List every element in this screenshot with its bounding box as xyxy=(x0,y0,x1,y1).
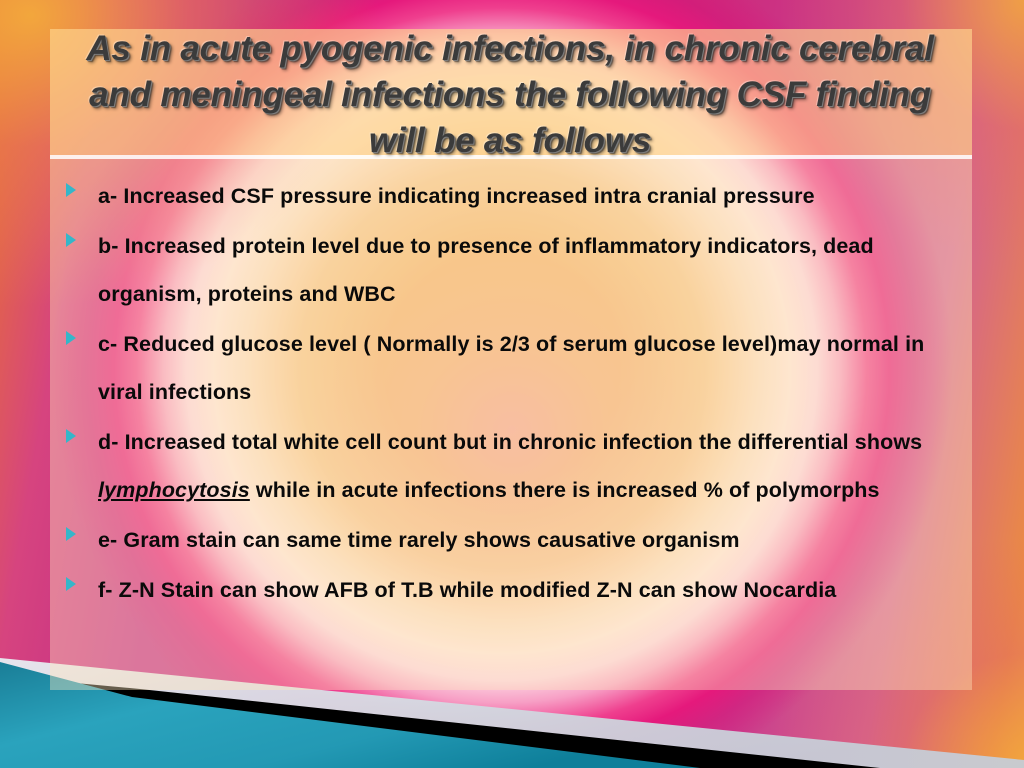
bullet-d-after: while in acute infections there is incre… xyxy=(250,478,880,502)
bullet-text-a: a- Increased CSF pressure indicating inc… xyxy=(98,172,971,220)
bullet-list: a- Increased CSF pressure indicating inc… xyxy=(66,172,971,616)
bullet-text-c: c- Reduced glucose level ( Normally is 2… xyxy=(98,320,971,416)
triangle-right-icon xyxy=(66,516,98,541)
bullet-text-e: e- Gram stain can same time rarely shows… xyxy=(98,516,971,564)
list-item: f- Z-N Stain can show AFB of T.B while m… xyxy=(66,566,971,614)
bullet-text-f: f- Z-N Stain can show AFB of T.B while m… xyxy=(98,566,971,614)
triangle-right-icon xyxy=(66,222,98,247)
list-item: b- Increased protein level due to presen… xyxy=(66,222,971,318)
list-item: e- Gram stain can same time rarely shows… xyxy=(66,516,971,564)
list-item: a- Increased CSF pressure indicating inc… xyxy=(66,172,971,220)
bullet-d-before: d- Increased total white cell count but … xyxy=(98,430,922,454)
bullet-d-emphasis: lymphocytosis xyxy=(98,478,250,502)
triangle-right-icon xyxy=(66,320,98,345)
triangle-right-icon xyxy=(66,566,98,591)
bullet-text-d: d- Increased total white cell count but … xyxy=(98,418,971,514)
slide-title: As in acute pyogenic infections, in chro… xyxy=(60,26,960,164)
list-item: d- Increased total white cell count but … xyxy=(66,418,971,514)
bullet-text-b: b- Increased protein level due to presen… xyxy=(98,222,971,318)
triangle-right-icon xyxy=(66,418,98,443)
slide-canvas: As in acute pyogenic infections, in chro… xyxy=(0,0,1024,768)
list-item: c- Reduced glucose level ( Normally is 2… xyxy=(66,320,971,416)
triangle-right-icon xyxy=(66,172,98,197)
